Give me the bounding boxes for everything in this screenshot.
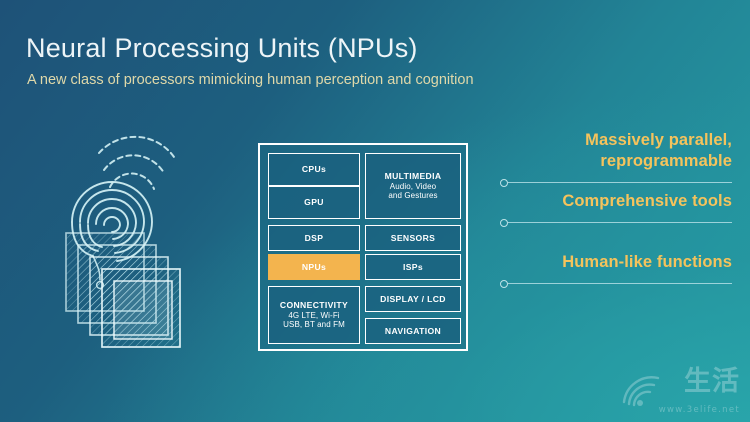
callout-1-line-1: Massively parallel, [500,130,732,151]
stacked-chip-layers-icon [66,233,180,347]
callout-1-bullet-icon [500,179,508,187]
block-cpus[interactable]: CPUs [268,153,360,186]
watermark-glyphs: 生活 [684,368,740,395]
callout-1-divider [508,182,732,183]
block-multimedia-label: MULTIMEDIA [385,171,442,181]
callout-2-line-1: Comprehensive tools [500,191,732,212]
watermark-wifi-icon [620,372,666,408]
slide-canvas: Neural Processing Units (NPUs) A new cla… [0,0,750,422]
block-display-lcd-label: DISPLAY / LCD [380,294,446,304]
block-isps[interactable]: ISPs [365,254,461,280]
block-sensors-label: SENSORS [391,233,435,243]
callout-3-divider [508,283,732,284]
block-multimedia[interactable]: MULTIMEDIA Audio, Video and Gestures [365,153,461,219]
block-gpu-label: GPU [304,197,324,207]
block-sensors[interactable]: SENSORS [365,225,461,251]
callout-2-bullet-icon [500,219,508,227]
block-cpus-label: CPUs [302,164,326,174]
block-multimedia-detail-2: and Gestures [388,191,437,200]
block-gpu[interactable]: GPU [268,186,360,219]
block-connectivity-label: CONNECTIVITY [280,300,348,310]
left-illustration [60,125,260,350]
callout-2-divider [508,222,732,223]
soc-block-diagram: CPUs GPU DSP NPUs CONNECTIVITY 4G LTE, W… [258,143,468,351]
block-connectivity[interactable]: CONNECTIVITY 4G LTE, Wi-Fi USB, BT and F… [268,286,360,344]
block-connectivity-detail-1: 4G LTE, Wi-Fi [288,311,339,320]
block-dsp[interactable]: DSP [268,225,360,251]
block-display-lcd[interactable]: DISPLAY / LCD [365,286,461,312]
fingerprint-and-layers-graphic [60,125,260,350]
block-dsp-label: DSP [305,233,324,243]
page-title: Neural Processing Units (NPUs) [26,33,418,64]
callout-3: Human-like functions [500,252,732,289]
block-connectivity-detail-2: USB, BT and FM [283,320,345,329]
callout-1: Massively parallel, reprogrammable [500,130,732,188]
callout-3-bullet-icon [500,280,508,288]
site-watermark: 生活 www.3elife.net [620,368,742,416]
callout-3-line-1: Human-like functions [500,252,732,273]
callout-2-rule [500,218,732,228]
block-navigation[interactable]: NAVIGATION [365,318,461,344]
watermark-url: www.3elife.net [659,405,740,415]
callout-1-text: Massively parallel, reprogrammable [500,130,732,172]
page-subtitle: A new class of processors mimicking huma… [27,72,474,88]
watermark-dot-icon [637,400,643,406]
callout-1-line-2: reprogrammable [500,151,732,172]
callout-2-text: Comprehensive tools [500,191,732,212]
callout-1-rule [500,178,732,188]
callout-3-rule [500,279,732,289]
block-navigation-label: NAVIGATION [385,326,441,336]
block-isps-label: ISPs [403,262,423,272]
block-npus-label: NPUs [302,262,326,272]
block-multimedia-detail-1: Audio, Video [390,182,436,191]
callout-3-text: Human-like functions [500,252,732,273]
callout-2: Comprehensive tools [500,191,732,228]
block-npus-highlighted[interactable]: NPUs [268,254,360,280]
